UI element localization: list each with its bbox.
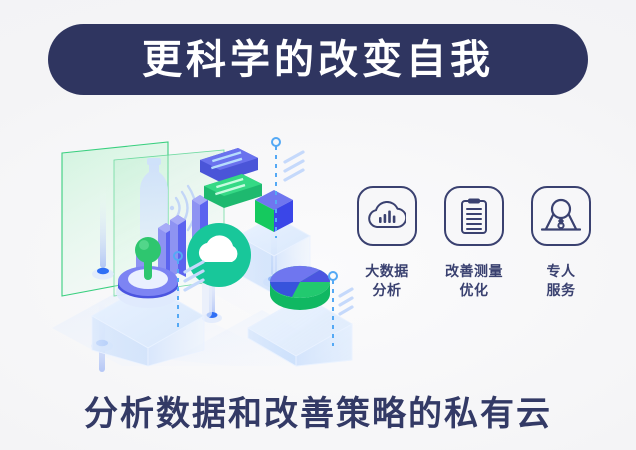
feature-label-line1: 大数据: [365, 262, 409, 281]
feature-item-measurement[interactable]: 改善测量 优化: [437, 186, 511, 336]
feature-label-measurement: 改善测量 优化: [445, 262, 503, 300]
title-banner: 更科学的改变自我: [48, 24, 588, 95]
clipboard-icon: [444, 186, 504, 246]
feature-label-line2: 分析: [365, 281, 409, 300]
pie-chart-3d: [270, 266, 330, 310]
feature-label-line2: 服务: [547, 281, 576, 300]
feature-item-support[interactable]: 专人 服务: [524, 186, 598, 336]
feature-label-line1: 专人: [547, 262, 576, 281]
feature-label-support: 专人 服务: [547, 262, 576, 300]
page-title: 更科学的改变自我: [142, 40, 494, 80]
feature-item-big-data[interactable]: 大数据 分析: [350, 186, 424, 336]
hero-illustration: [52, 128, 352, 366]
cloud-chart-icon: [357, 186, 417, 246]
support-agent-icon: [531, 186, 591, 246]
tagline: 分析数据和改善策略的私有云: [0, 386, 636, 435]
poster-canvas: 更科学的改变自我: [0, 0, 636, 450]
feature-label-line2: 优化: [445, 281, 503, 300]
feature-label-line1: 改善测量: [445, 262, 503, 281]
feature-list: 大数据 分析 改善测量: [350, 186, 598, 336]
feature-label-big-data: 大数据 分析: [365, 262, 409, 300]
